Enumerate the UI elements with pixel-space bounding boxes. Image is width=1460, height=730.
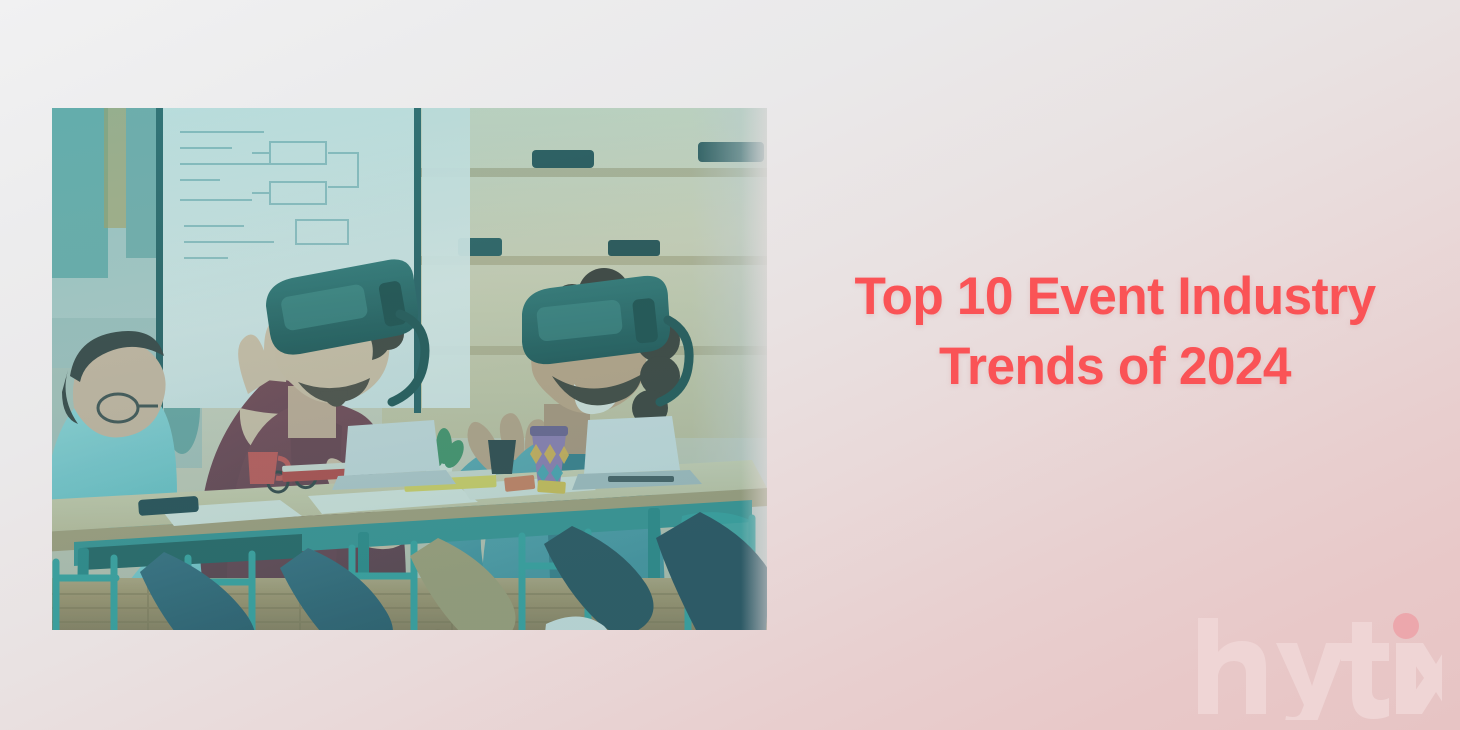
hero-photo [52,108,767,630]
promo-banner: Top 10 Event Industry Trends of 2024 [0,0,1460,730]
page-title: Top 10 Event Industry Trends of 2024 [785,262,1445,402]
logo-dot-icon [1393,613,1419,639]
hytix-logo [1192,612,1442,720]
hero-photo-illustration [52,108,767,630]
hytix-logo-mark [1192,612,1442,720]
